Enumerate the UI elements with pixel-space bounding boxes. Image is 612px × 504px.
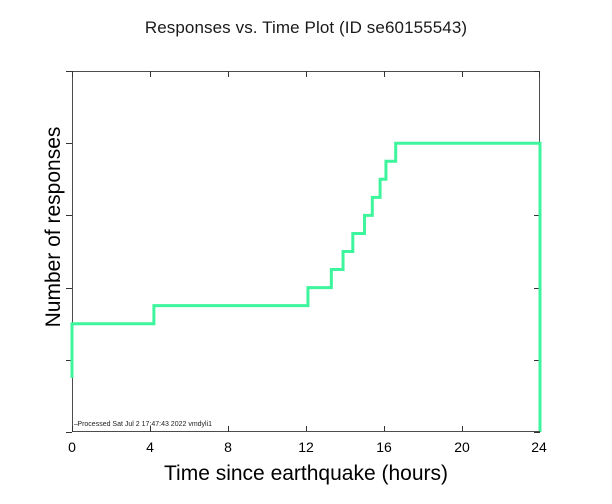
x-tick-label: 12 (286, 439, 326, 455)
stamp-text: Processed Sat Jul 2 17:47:43 2022 vmdyli… (77, 421, 212, 428)
x-tick-label: 24 (519, 439, 559, 455)
chart-canvas: Responses vs. Time Plot (ID se60155543) … (0, 0, 612, 504)
x-tick-label: 16 (364, 439, 404, 455)
stamp-rule (252, 431, 540, 432)
chart-title: Responses vs. Time Plot (ID se60155543) (0, 18, 612, 38)
x-tick-label: 4 (130, 439, 170, 455)
x-tick-label: 8 (208, 439, 248, 455)
x-tick-label: 20 (442, 439, 482, 455)
x-tick-label: 0 (52, 439, 92, 455)
y-tick-mark (66, 432, 72, 433)
y-axis-title: Number of responses (42, 87, 66, 367)
step-line-series (72, 71, 540, 432)
x-axis-title: Time since earthquake (hours) (0, 462, 612, 486)
processing-stamp: –Processed Sat Jul 2 17:47:43 2022 vmdyl… (74, 421, 212, 428)
plot-area: 048121620 04812162024 (72, 71, 540, 432)
y-tick-mark-right (534, 432, 540, 433)
